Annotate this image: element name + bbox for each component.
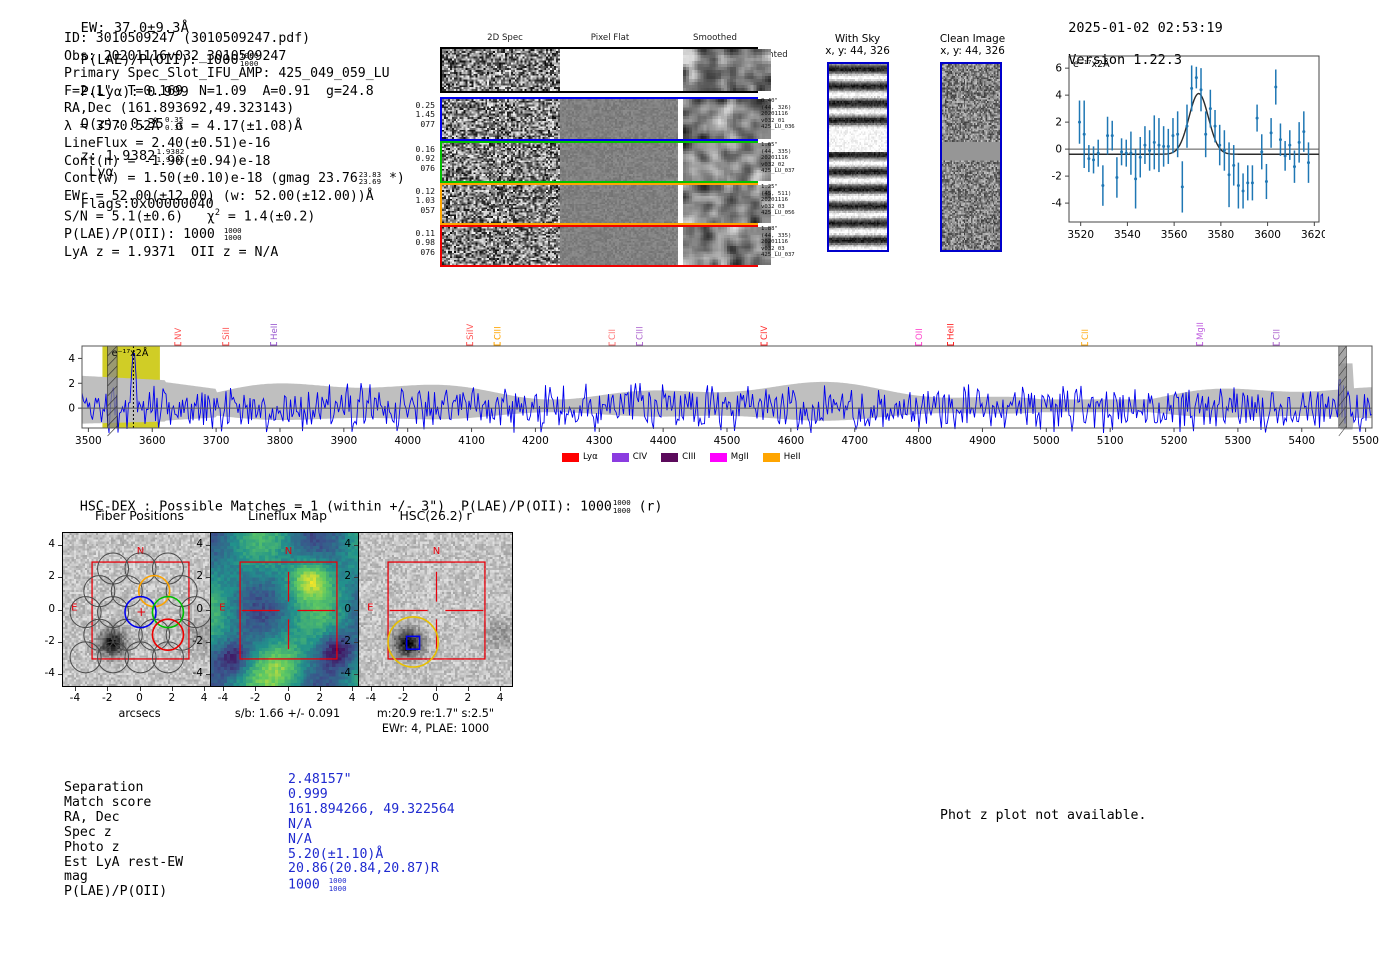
cutout-ytick-label: -2 [30,635,55,647]
cutout-xtick [107,687,108,691]
cutout-ytick-label: -4 [30,667,55,679]
cutout-ytick-label: -4 [326,667,351,679]
svg-text:2: 2 [1055,117,1062,129]
full-spectrum-plot: 3500360037003800390040004100420043004400… [60,318,1380,468]
cutout-xtick [403,687,404,691]
column-header-pixelflat: Pixel Flat [565,33,655,43]
svg-text:HeII: HeII [270,323,280,340]
cutout-xtick-label: 0 [274,692,302,704]
line-marker-bracket [223,342,229,345]
info-id: ID: 3010509247 (3010509247.pdf) [64,30,405,48]
legend-item-heii[interactable]: HeII [763,452,801,462]
weighted-sum-row [440,47,758,93]
legend-swatch-heii [763,453,780,462]
cutout-xtick [223,687,224,691]
svg-text:4600: 4600 [777,435,804,447]
masked-region-0 [108,346,118,436]
line-marker-bracket [948,342,954,345]
stamp-sub-text-0: x, y: 44, 326 [805,45,910,57]
smoothed-image [683,99,771,139]
cutout-xtick-label: -4 [357,692,385,704]
svg-text:3800: 3800 [267,435,294,447]
line-marker-bracket [494,342,500,345]
svg-text:4100: 4100 [458,435,485,447]
svg-text:4200: 4200 [522,435,549,447]
svg-text:4000: 4000 [394,435,421,447]
masked-region-1 [1339,346,1347,436]
svg-text:5500: 5500 [1352,435,1379,447]
cutout-xtick [204,687,205,691]
cutout-ytick-label: 0 [178,603,203,615]
svg-text:CIII: CIII [636,326,646,340]
match-key-6: mag [64,870,88,885]
cutout-caption2-2: EWr: 4, PLAE: 1000 [328,722,543,735]
pixelflat-image [560,143,678,181]
legend-swatch-civ [612,453,629,462]
svg-text:MgII: MgII [1196,322,1206,340]
cutout-ytick-label: 4 [178,538,203,550]
fiber-row-3 [440,183,758,225]
cutout-ytick-label: 0 [30,603,55,615]
cutout-ytick [206,674,210,675]
cutout-panel-group: Fiber PositionsNE+-4-4-2-2002244arcsecsL… [40,508,640,738]
line-marker-bracket [1082,342,1088,345]
cutout-ytick [58,545,62,546]
info-obs: Obs: 20201116v032_3010509247 [64,48,405,66]
svg-text:e⁻¹⁷x2Å: e⁻¹⁷x2Å [1073,58,1110,70]
spectrum-svg: 3500360037003800390040004100420043004400… [60,318,1380,468]
cutout-ytick [206,545,210,546]
svg-text:N: N [433,546,440,557]
cutout-ytick-label: 4 [326,538,351,550]
match-key-3: Spec z [64,826,112,841]
fiber-row-2 [440,141,758,183]
svg-text:N: N [137,546,144,557]
smoothed-image [683,227,771,265]
info-radec: RA,Dec (161.893692,49.323143) [64,100,405,118]
svg-text:3580: 3580 [1208,229,1235,241]
cutout-ytick [354,642,358,643]
cutout-ytick-label: -2 [178,635,203,647]
cutout-ytick [206,577,210,578]
svg-text:-4: -4 [1052,198,1063,210]
match-key-2: RA, Dec [64,811,120,826]
photz-message: Phot z plot not available. [940,808,1146,823]
cutout-xtick-label: 0 [126,692,154,704]
cutout-ytick [58,577,62,578]
line-marker-bracket [1273,342,1279,345]
svg-text:CII: CII [1272,329,1282,340]
svg-text:4900: 4900 [969,435,996,447]
match-key-0: Separation [64,781,143,796]
pixelflat-image [560,227,678,265]
svg-text:6: 6 [1055,63,1062,75]
match-value-4: N/A [288,833,312,848]
stamp-title-clean-image: Clean Image x, y: 44, 326 [920,33,1025,58]
cutout-ytick [354,577,358,578]
pixelflat-image [560,49,678,91]
svg-text:HeII: HeII [947,323,957,340]
svg-text:5300: 5300 [1225,435,1252,447]
clean-image-stamp [940,62,1002,252]
svg-text:SiIV: SiIV [466,324,476,340]
cutout-ytick-label: 0 [326,603,351,615]
fiber-stats-1: 0.251.45077 [403,101,435,129]
cutout-xtick-label: -2 [241,692,269,704]
cutout-ytick [206,610,210,611]
stamp-title-text-1: Clean Image [920,33,1025,45]
svg-text:4800: 4800 [905,435,932,447]
object-info-block: ID: 3010509247 (3010509247.pdf) Obs: 202… [64,30,405,262]
cutout-ytick [58,642,62,643]
match-value-5: 5.20(±1.10)Å [288,848,383,863]
smoothed-image [683,143,771,181]
cutout-caption-2: m:20.9 re:1.7" s:2.5" [328,707,543,720]
emission-line-zoom-plot: 352035403560358036003620-4-20246e⁻¹⁷x2Å [1035,48,1325,248]
info-primary-slot: Primary Spec_Slot_IFU_AMP: 425_049_059_L… [64,65,405,83]
fiber-stats-4: 0.110.98076 [403,229,435,257]
legend-item-civ[interactable]: CIV [612,452,647,462]
2dspec-image [442,49,560,91]
svg-text:4300: 4300 [586,435,613,447]
info-sn-chi2: S/N = 5.1(±0.6) χ2 = 1.4(±0.2) [64,205,405,226]
svg-text:5200: 5200 [1161,435,1188,447]
cutout-ytick-label: 4 [30,538,55,550]
line-marker-bracket [916,342,922,345]
match-marker-square [407,636,420,649]
spectrum-legend: LyαCIVCIIIMgIIHeII [562,452,801,462]
svg-text:3900: 3900 [330,435,357,447]
match-value-7: 1000 10001000 [288,877,347,894]
legend-swatch-lyα [562,453,579,462]
fiber-row-4 [440,225,758,267]
cutout-ytick [354,674,358,675]
header-timestamp: 2025-01-02 02:53:19 [1068,20,1222,36]
cutout-xtick [255,687,256,691]
match-value-2: 161.894266, 49.322564 [288,803,455,818]
gaussian-fit-curve [1069,94,1319,155]
svg-text:N: N [285,546,292,557]
svg-text:OII: OII [915,328,925,340]
legend-swatch-ciii [661,453,678,462]
cutout-ytick-label: -2 [326,635,351,647]
stamp-title-text-0: With Sky [805,33,910,45]
legend-label: Lyα [583,452,598,462]
svg-text:SiII: SiII [222,327,232,340]
svg-text:5100: 5100 [1097,435,1124,447]
match-key-1: Match score [64,796,151,811]
cutout-ytick [206,642,210,643]
info-ewr: EWr = 52.00(±12.00) (w: 52.00(±12.00))Å [64,188,405,206]
svg-text:0: 0 [68,403,75,415]
cutout-xtick-label: -4 [61,692,89,704]
match-value-0: 2.48157" [288,773,352,788]
line-marker-bracket [271,342,277,345]
stamp-title-with-sky: With Sky x, y: 44, 326 [805,33,910,58]
svg-text:3540: 3540 [1114,229,1141,241]
cutout-xtick-label: 2 [454,692,482,704]
cutout-image-2[interactable]: NE [358,532,513,687]
match-value-1: 0.999 [288,788,328,803]
fiber-stats-3: 0.121.03057 [403,187,435,215]
cutout-xtick [436,687,437,691]
info-lineflux: LineFlux = 2.40(±0.51)e-16 [64,135,405,153]
sky-stamp-group: With Sky x, y: 44, 326 Clean Image x, y:… [805,33,1020,253]
match-plae-fraction: 10001000 [329,877,347,892]
column-header-2dspec: 2D Spec [460,33,550,43]
info-lambda: λ = 3570.52Å σ = 4.17(±1.08)Å [64,118,405,136]
info-plae: P(LAE)/P(OII): 1000 10001000 [64,226,405,244]
column-header-smoothed: Smoothed [670,33,760,43]
cutout-xtick [500,687,501,691]
cutout-xtick-label: 2 [306,692,334,704]
cutout-ytick-label: 2 [178,570,203,582]
legend-label: HeII [784,452,801,462]
svg-text:CII: CII [608,329,618,340]
cutout-ytick [58,610,62,611]
fiber-row-1 [440,97,758,141]
hscdex-header-post: (r) [639,500,663,515]
2dspec-image [442,143,560,181]
cutout-xtick [288,687,289,691]
cutout-xtick [468,687,469,691]
svg-text:5000: 5000 [1033,435,1060,447]
cutout-ytick [58,674,62,675]
with-sky-stamp [827,62,889,252]
svg-text:CIII: CIII [493,326,503,340]
cutout-ytick-label: 2 [30,570,55,582]
info-seeing: F=2.1" T=0.169 N=1.09 A=0.91 g=24.8 [64,83,405,101]
svg-text:3600: 3600 [139,435,166,447]
cutout-xtick [371,687,372,691]
cutout-xtick [75,687,76,691]
svg-text:0: 0 [1055,144,1062,156]
svg-text:E: E [219,603,225,614]
line-marker-bracket [609,342,615,345]
svg-text:4: 4 [68,353,75,365]
2dspec-image [442,227,560,265]
2dspec-image [442,99,560,139]
svg-text:e⁻¹⁷x2Å: e⁻¹⁷x2Å [112,347,149,359]
svg-text:3600: 3600 [1254,229,1281,241]
svg-text:+: + [136,605,146,619]
svg-text:CIV: CIV [760,325,770,340]
cutout-xtick [172,687,173,691]
match-value-6: 20.86(20.84,20.87)R [288,862,439,877]
cutout-ytick [354,610,358,611]
legend-item-ciii[interactable]: CIII [661,452,696,462]
line-marker-bracket [467,342,473,345]
svg-text:3620: 3620 [1301,229,1325,241]
stamp-sub-text-1: x, y: 44, 326 [920,45,1025,57]
cutout-xtick-label: -2 [93,692,121,704]
2d-spec-panel-group: 2D Spec Pixel Flat Smoothed Weighted Sum… [425,33,765,253]
smoothed-image [683,49,771,91]
cutout-xtick [320,687,321,691]
line-marker-bracket [175,342,181,345]
cutout-xtick [352,687,353,691]
match-key-5: Est LyA rest-EW [64,856,183,871]
fiber-stats-2: 0.160.92076 [403,145,435,173]
svg-text:3560: 3560 [1161,229,1188,241]
info-redshifts: LyA z = 1.9371 OII z = N/A [64,244,405,262]
svg-text:CII: CII [1081,329,1091,340]
svg-text:4400: 4400 [650,435,677,447]
match-key-4: Photo z [64,841,120,856]
cutout-title-2: HSC(26.2) r [340,508,531,523]
cutout-xtick-label: 0 [422,692,450,704]
svg-text:4: 4 [1055,90,1062,102]
cutout-overlay-2: NE [359,533,513,687]
pixelflat-image [560,99,678,139]
match-key-7: P(LAE)/P(OII) [64,885,167,900]
info-cont-w: Cont(w) = 1.50(±0.10)e-18 (gmag 23.7623.… [64,170,405,188]
cutout-xtick-label: 4 [486,692,514,704]
cutout-ytick-label: -4 [178,667,203,679]
svg-text:NV: NV [174,328,184,340]
cutout-xtick-label: -4 [209,692,237,704]
pixelflat-image [560,185,678,223]
cutout-ytick-label: 2 [326,570,351,582]
svg-text:4500: 4500 [714,435,741,447]
svg-text:4700: 4700 [841,435,868,447]
svg-text:3700: 3700 [203,435,230,447]
svg-text:5400: 5400 [1288,435,1315,447]
svg-text:3520: 3520 [1067,229,1094,241]
cutout-xtick [140,687,141,691]
cutout-xtick-label: -2 [389,692,417,704]
legend-item-mgii[interactable]: MgII [710,452,749,462]
line-marker-bracket [761,342,767,345]
legend-swatch-mgii [710,453,727,462]
legend-label: CIV [633,452,647,462]
svg-text:-2: -2 [1052,171,1062,183]
match-value-3: N/A [288,818,312,833]
2dspec-image [442,185,560,223]
legend-label: CIII [682,452,696,462]
cutout-xtick-label: 2 [158,692,186,704]
info-cont-n: Cont(n) = -1.90(±0.94)e-18 [64,153,405,171]
legend-item-lyα[interactable]: Lyα [562,452,598,462]
zoom-plot-svg: 352035403560358036003620-4-20246e⁻¹⁷x2Å [1035,48,1325,248]
smoothed-image [683,185,771,223]
line-marker-bracket [637,342,643,345]
legend-label: MgII [731,452,749,462]
cutout-ytick [354,545,358,546]
svg-text:E: E [367,603,373,614]
svg-text:3500: 3500 [75,435,102,447]
svg-text:2: 2 [68,378,75,390]
line-marker-bracket [1197,342,1203,345]
